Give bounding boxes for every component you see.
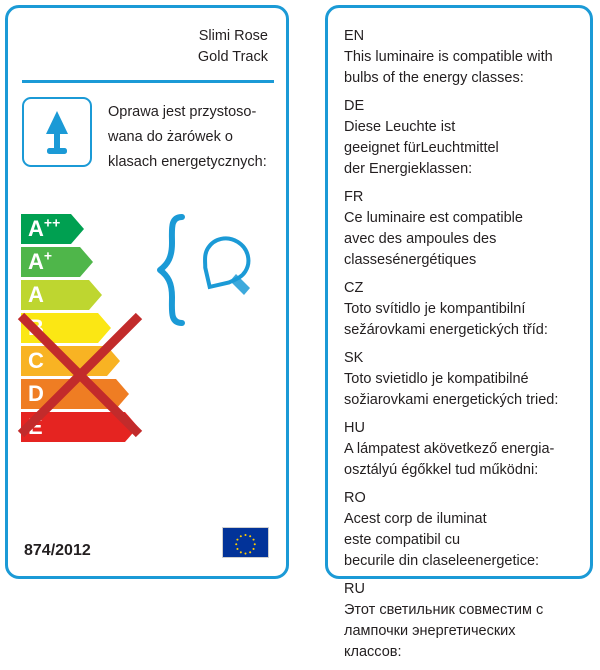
title-divider: [22, 80, 274, 83]
brace-and-bulb-graphic: [156, 213, 266, 328]
language-block-sk: SKToto svietidlo je kompatibilné sožiaro…: [344, 348, 584, 411]
energy-class-c: C: [21, 346, 120, 376]
multilingual-notice-panel: ENThis luminaire is compatible with bulb…: [325, 5, 593, 579]
energy-label-panel: Slimi Rose Gold Track Oprawa jest przyst…: [5, 5, 289, 579]
language-block-en: ENThis luminaire is compatible with bulb…: [344, 26, 584, 89]
light-bulb-icon: [191, 230, 256, 298]
language-text: Toto svítidlo je kompantibilní sežárovka…: [344, 299, 584, 341]
language-code: FR: [344, 187, 584, 208]
energy-class-scale: A++A+ABCDE: [21, 214, 146, 449]
language-code: CZ: [344, 278, 584, 299]
language-text: This luminaire is compatible with bulbs …: [344, 47, 584, 89]
language-code: RO: [344, 488, 584, 509]
language-block-fr: FRCe luminaire est compatible avec des a…: [344, 187, 584, 271]
language-code: EN: [344, 26, 584, 47]
language-code: RU: [344, 579, 584, 600]
language-text: Этот светильник совместим с лампочки эне…: [344, 600, 584, 663]
energy-class-row: A: [21, 280, 146, 310]
energy-class-e: E: [21, 412, 138, 442]
energy-class-row: C: [21, 346, 146, 376]
regulation-number: 874/2012: [24, 542, 91, 560]
language-code: DE: [344, 96, 584, 117]
energy-class-row: B: [21, 313, 146, 343]
table-lamp-icon: [22, 97, 92, 167]
language-block-hu: HUA lámpatest akövetkező energia- osztál…: [344, 418, 584, 481]
language-block-ru: RUЭтот светильник совместим с лампочки э…: [344, 579, 584, 663]
energy-class-row: E: [21, 412, 146, 442]
compatibility-caption: Oprawa jest przystoso- wana do żarówek o…: [108, 100, 288, 175]
language-text: Toto svietidlo je kompatibilné sožiarovk…: [344, 369, 584, 411]
language-code: HU: [344, 418, 584, 439]
energy-class-b: B: [21, 313, 111, 343]
curly-brace-icon: [160, 217, 182, 323]
language-text: A lámpatest akövetkező energia- osztályú…: [344, 439, 584, 481]
energy-class-aplusplus: A++: [21, 214, 84, 244]
product-title: Slimi Rose Gold Track: [198, 26, 268, 68]
energy-class-row: A+: [21, 247, 146, 277]
energy-class-a: A: [21, 280, 102, 310]
eu-flag: [222, 527, 269, 558]
language-code: SK: [344, 348, 584, 369]
language-block-de: DEDiese Leuchte ist geeignet fürLeuchtmi…: [344, 96, 584, 180]
energy-class-row: D: [21, 379, 146, 409]
energy-class-aplus: A+: [21, 247, 93, 277]
language-block-ro: ROAcest corp de iluminat este compatibil…: [344, 488, 584, 572]
language-text: Diese Leuchte ist geeignet fürLeuchtmitt…: [344, 117, 584, 180]
language-text: Ce luminaire est compatible avec des amp…: [344, 208, 584, 271]
language-text: Acest corp de iluminat este compatibil c…: [344, 509, 584, 572]
energy-class-d: D: [21, 379, 129, 409]
language-list: ENThis luminaire is compatible with bulb…: [344, 26, 584, 670]
energy-class-row: A++: [21, 214, 146, 244]
language-block-cz: CZToto svítidlo je kompantibilní sežárov…: [344, 278, 584, 341]
